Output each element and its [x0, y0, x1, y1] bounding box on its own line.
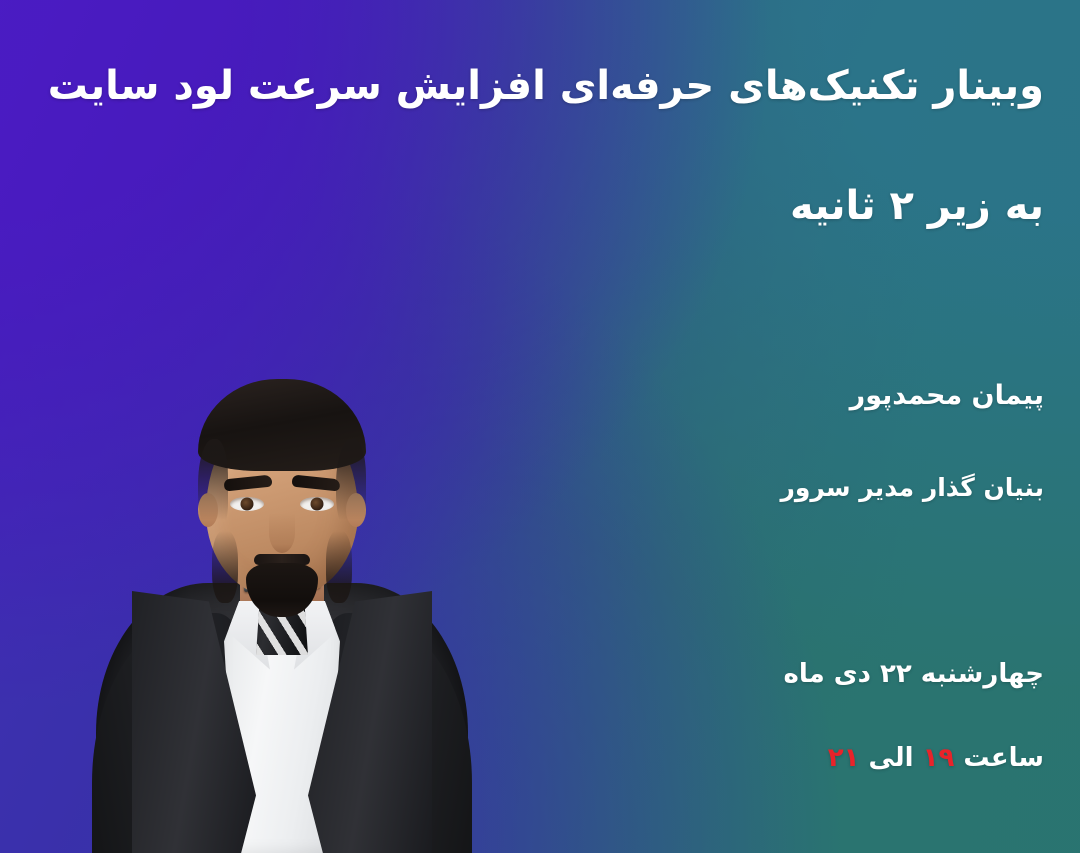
eye-left: [230, 497, 264, 511]
event-date: چهارشنبه ۲۲ دی ماه: [480, 658, 1044, 692]
event-time-joiner: الی: [859, 743, 922, 773]
speaker-name: پیمان محمدپور: [480, 378, 1044, 413]
eye-right: [300, 497, 334, 511]
event-time-prefix: ساعت: [954, 743, 1044, 773]
headline-line-1: وبینار تکنیک‌های حرفه‌ای افزایش سرعت لود…: [24, 62, 1044, 111]
speaker-role: بنیان گذار مدیر سرور: [480, 472, 1044, 505]
beard-edge-right: [326, 531, 352, 603]
speaker-portrait: [96, 395, 468, 853]
iris-right: [311, 498, 324, 511]
beard-edge-left: [212, 531, 238, 603]
iris-left: [241, 498, 254, 511]
nose: [269, 513, 295, 553]
event-time-start: ۱۹: [923, 743, 955, 773]
event-time-end: ۲۱: [828, 743, 860, 773]
webinar-banner: وبینار تکنیک‌های حرفه‌ای افزایش سرعت لود…: [0, 0, 1080, 853]
hair-sideburn-right: [336, 439, 366, 531]
event-time: ساعت ۱۹ الی ۲۱: [480, 742, 1044, 776]
headline-line-2: به زیر ۲ ثانیه: [24, 182, 1044, 231]
